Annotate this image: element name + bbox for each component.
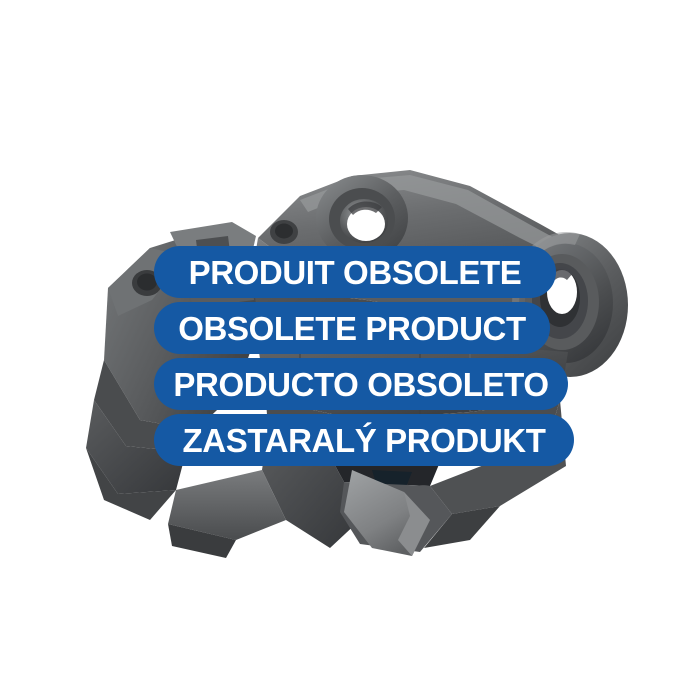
obsolete-banner-label-cs: ZASTARALÝ PRODUKT bbox=[183, 424, 546, 457]
product-image-stage: PRODUIT OBSOLETE OBSOLETE PRODUCT PRODUC… bbox=[0, 0, 700, 700]
obsolete-banner-label-en: OBSOLETE PRODUCT bbox=[178, 312, 525, 345]
obsolete-banner-cs: ZASTARALÝ PRODUKT bbox=[154, 414, 574, 466]
obsolete-banner-label-es: PRODUCTO OBSOLETO bbox=[173, 368, 548, 401]
obsolete-banner-en: OBSOLETE PRODUCT bbox=[154, 302, 550, 354]
obsolete-banner-stack: PRODUIT OBSOLETE OBSOLETE PRODUCT PRODUC… bbox=[0, 246, 700, 466]
obsolete-banner-fr: PRODUIT OBSOLETE bbox=[154, 246, 556, 298]
obsolete-banner-es: PRODUCTO OBSOLETO bbox=[154, 358, 568, 410]
obsolete-banner-label-fr: PRODUIT OBSOLETE bbox=[189, 256, 522, 289]
